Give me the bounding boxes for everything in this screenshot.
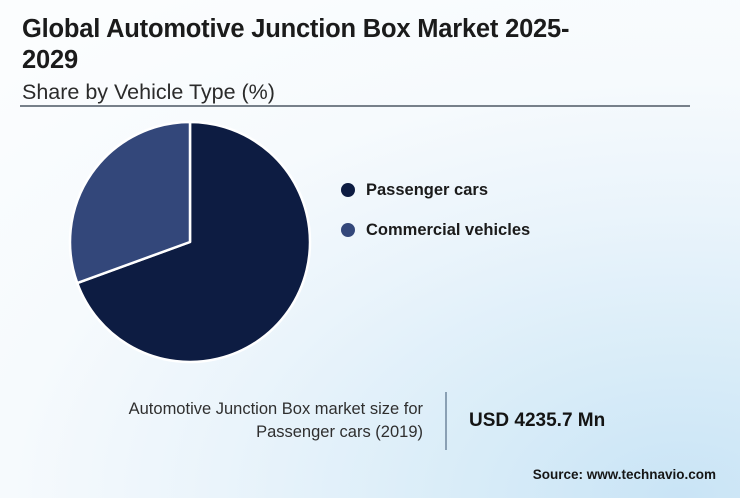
header: Global Automotive Junction Box Market 20… (22, 14, 712, 106)
page-subtitle: Share by Vehicle Type (%) (22, 79, 712, 106)
source-label: Source: www.technavio.com (533, 467, 716, 482)
header-divider (20, 105, 690, 107)
legend-dot-passenger-cars (341, 183, 355, 197)
legend-dot-commercial-vehicles (341, 223, 355, 237)
legend-item-passenger-cars: Passenger cars (341, 170, 671, 210)
pie-chart (70, 122, 310, 362)
key-stat-caption: Automotive Junction Box market size for … (30, 398, 445, 445)
legend-item-commercial-vehicles: Commercial vehicles (341, 210, 671, 250)
infographic-card: Global Automotive Junction Box Market 20… (0, 0, 740, 498)
legend-label-passenger-cars: Passenger cars (366, 181, 488, 200)
key-stat: Automotive Junction Box market size for … (30, 390, 710, 452)
chart-legend: Passenger cars Commercial vehicles (341, 170, 671, 250)
key-stat-value: USD 4235.7 Mn (447, 410, 605, 432)
page-title: Global Automotive Junction Box Market 20… (22, 14, 582, 75)
legend-label-commercial-vehicles: Commercial vehicles (366, 221, 530, 240)
key-stat-caption-line-2: Passenger cars (2019) (30, 421, 423, 444)
key-stat-caption-line-1: Automotive Junction Box market size for (30, 398, 423, 421)
